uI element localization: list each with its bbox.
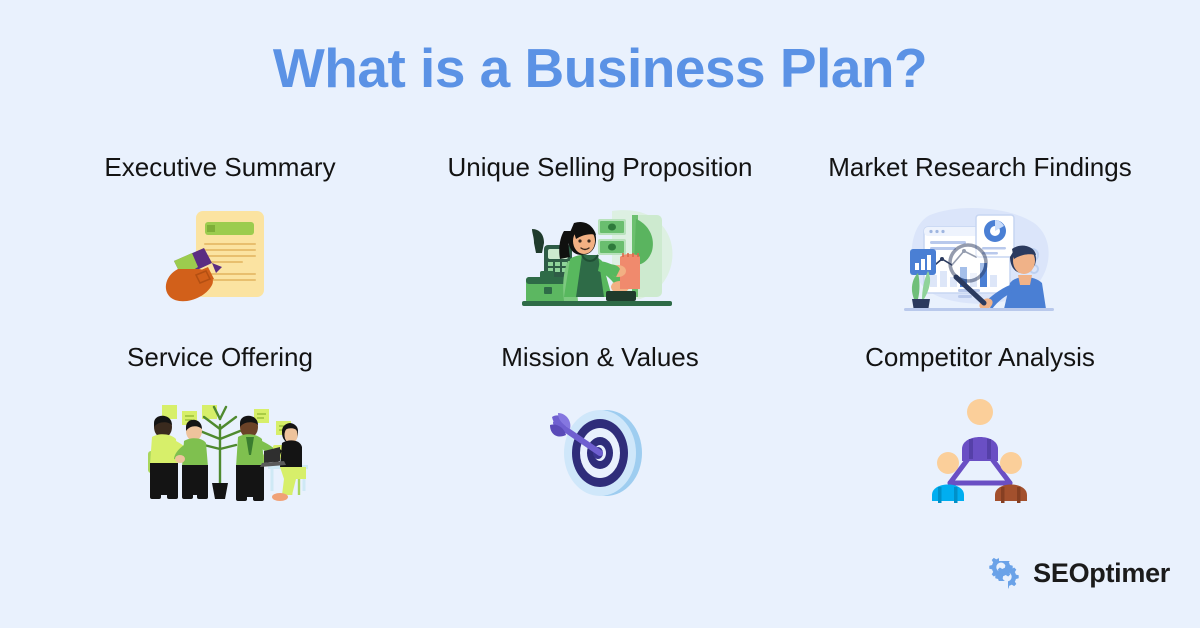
- grid-item-service-offering: Service Offering: [30, 342, 410, 532]
- item-label: Executive Summary: [104, 152, 335, 183]
- document-with-pen-icon: [160, 201, 280, 321]
- seoptimer-logo-text: SEOptimer: [1033, 558, 1170, 589]
- data-analysis-magnifier-icon: [900, 201, 1060, 321]
- item-label: Service Offering: [127, 342, 313, 373]
- office-team-collaboration-icon: [130, 391, 310, 511]
- grid-item-market-research-findings: Market Research Findings: [790, 152, 1170, 342]
- item-label: Competitor Analysis: [865, 342, 1095, 373]
- item-label: Market Research Findings: [828, 152, 1131, 183]
- page-title: What is a Business Plan?: [0, 38, 1200, 99]
- item-label: Unique Selling Proposition: [448, 152, 753, 183]
- grid-item-competitor-analysis: Competitor Analysis: [790, 342, 1170, 532]
- seoptimer-logo[interactable]: SEOptimer: [983, 551, 1170, 596]
- connected-people-network-icon: [922, 391, 1038, 511]
- grid-item-executive-summary: Executive Summary: [30, 152, 410, 342]
- seoptimer-gears-icon: [983, 551, 1023, 596]
- target-dart-icon: [544, 391, 656, 511]
- item-label: Mission & Values: [501, 342, 699, 373]
- items-grid: Executive Summary: [30, 152, 1170, 532]
- grid-item-mission-and-values: Mission & Values: [410, 342, 790, 532]
- infographic-page: What is a Business Plan? Executive Summa…: [0, 0, 1200, 628]
- grid-item-unique-selling-proposition: Unique Selling Proposition: [410, 152, 790, 342]
- shop-cashier-icon: [520, 201, 680, 321]
